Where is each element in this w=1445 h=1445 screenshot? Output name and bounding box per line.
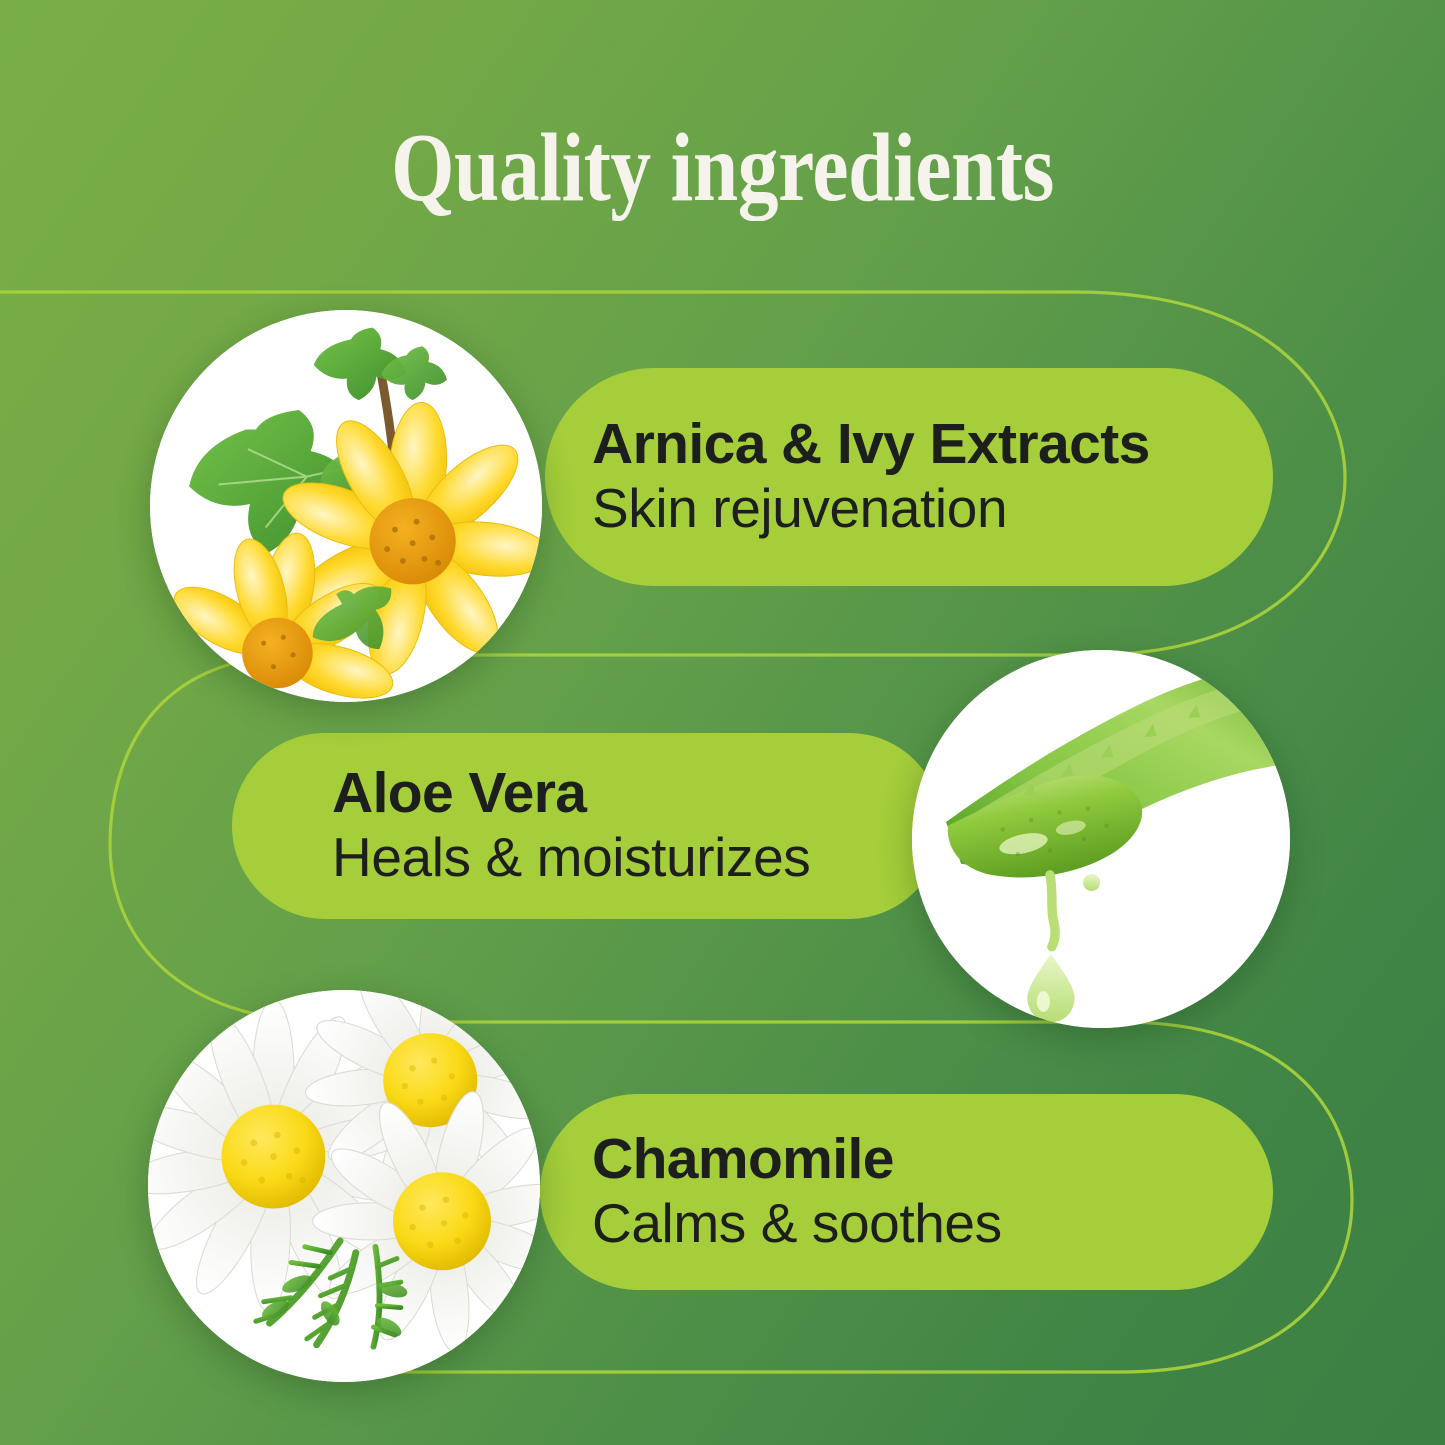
- aloe-vera-photo: [912, 650, 1290, 1028]
- chamomile-photo: [148, 990, 540, 1382]
- ingredient-name-chamomile: Chamomile: [592, 1130, 1273, 1189]
- ingredient-benefit-aloe: Heals & moisturizes: [332, 827, 942, 889]
- page-title: Quality ingredients: [116, 112, 1330, 223]
- ingredient-benefit-chamomile: Calms & soothes: [592, 1193, 1273, 1255]
- ingredient-card-arnica: Arnica & Ivy Extracts Skin rejuvenation: [545, 368, 1273, 586]
- ingredient-card-aloe: Aloe Vera Heals & moisturizes: [232, 733, 942, 919]
- arnica-ivy-photo: [150, 310, 542, 702]
- ingredient-benefit-arnica: Skin rejuvenation: [592, 478, 1273, 540]
- ingredient-name-aloe: Aloe Vera: [332, 764, 942, 823]
- ingredient-card-chamomile: Chamomile Calms & soothes: [540, 1094, 1273, 1290]
- ingredient-name-arnica: Arnica & Ivy Extracts: [592, 415, 1273, 474]
- quality-ingredients-poster: Quality ingredients Arnica & Ivy Extract…: [0, 0, 1445, 1445]
